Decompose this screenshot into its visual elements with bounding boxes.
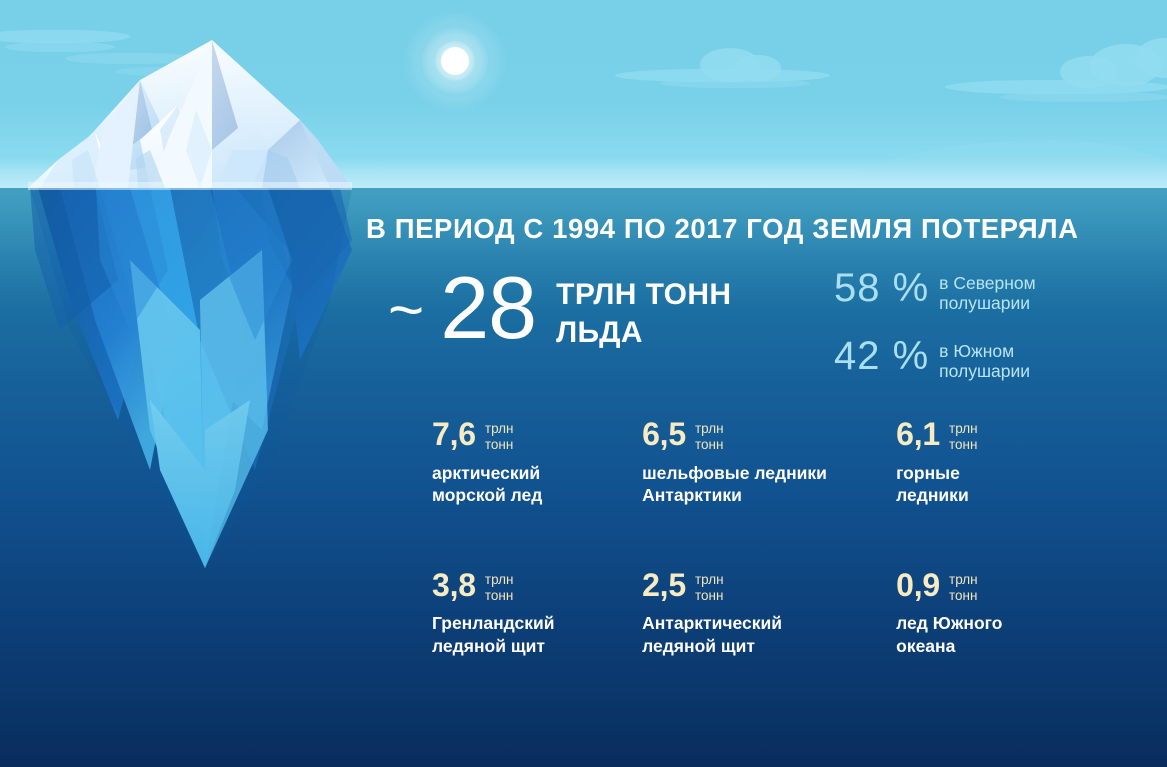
hemisphere-label: в Южном полушарии [939, 336, 1030, 382]
stat-unit: трлн тонн [485, 569, 514, 604]
stat-value: 2,5 [642, 569, 686, 601]
hero-value: 28 [440, 266, 536, 350]
stat-label: лед Южного океана [896, 612, 1072, 657]
approx-symbol: ~ [388, 280, 424, 342]
sun-icon [441, 47, 469, 75]
stats-row: 3,8 трлн тонн Гренландский ледяной щит 2… [432, 569, 1072, 658]
hemisphere-item: 42 % в Южном полушарии [834, 336, 1036, 382]
stat-unit: трлн тонн [695, 569, 724, 604]
stat-item: 2,5 трлн тонн Антарктический ледяной щит [642, 569, 896, 658]
hero-figure: ~ 28 ТРЛН ТОНН ЛЬДА [388, 266, 731, 353]
page-title: В ПЕРИОД С 1994 ПО 2017 ГОД ЗЕМЛЯ ПОТЕРЯ… [366, 213, 1079, 245]
stat-value: 6,1 [896, 418, 940, 450]
cloud-icon [115, 67, 215, 76]
stat-item: 7,6 трлн тонн арктический морской лед [432, 418, 642, 507]
stat-unit: трлн тонн [695, 418, 724, 453]
hero-unit: ТРЛН ТОНН ЛЬДА [556, 266, 731, 353]
stat-label: горные ледники [896, 462, 1072, 507]
hemisphere-breakdown: 58 % в Северном полушарии 42 % в Южном п… [834, 268, 1036, 403]
cloud-icon [660, 79, 810, 88]
stat-label: Антарктический ледяной щит [642, 612, 896, 657]
stat-value: 3,8 [432, 569, 476, 601]
cloud-icon [1000, 92, 1167, 102]
stat-value: 0,9 [896, 569, 940, 601]
stat-unit: трлн тонн [949, 569, 978, 604]
stat-label: Гренландский ледяной щит [432, 612, 642, 657]
cloud-icon [65, 53, 195, 64]
stat-label: арктический морской лед [432, 462, 642, 507]
stat-value: 7,6 [432, 418, 476, 450]
stats-row: 7,6 трлн тонн арктический морской лед 6,… [432, 418, 1072, 507]
stat-unit: трлн тонн [485, 418, 514, 453]
stat-value: 6,5 [642, 418, 686, 450]
stat-item: 0,9 трлн тонн лед Южного океана [896, 569, 1072, 658]
stat-item: 6,1 трлн тонн горные ледники [896, 418, 1072, 507]
stat-label: шельфовые ледники Антарктики [642, 462, 896, 507]
stats-grid: 7,6 трлн тонн арктический морской лед 6,… [432, 418, 1072, 657]
sky-background [0, 0, 1167, 188]
stat-item: 6,5 трлн тонн шельфовые ледники Антаркти… [642, 418, 896, 507]
hemisphere-label: в Северном полушарии [939, 268, 1036, 314]
hemisphere-percent: 58 % [834, 268, 929, 308]
cloud-icon [5, 42, 115, 52]
stat-item: 3,8 трлн тонн Гренландский ледяной щит [432, 569, 642, 658]
hemisphere-percent: 42 % [834, 336, 929, 376]
hemisphere-item: 58 % в Северном полушарии [834, 268, 1036, 314]
horizon-haze [0, 158, 1167, 188]
infographic-canvas: В ПЕРИОД С 1994 ПО 2017 ГОД ЗЕМЛЯ ПОТЕРЯ… [0, 0, 1167, 767]
stat-unit: трлн тонн [949, 418, 978, 453]
